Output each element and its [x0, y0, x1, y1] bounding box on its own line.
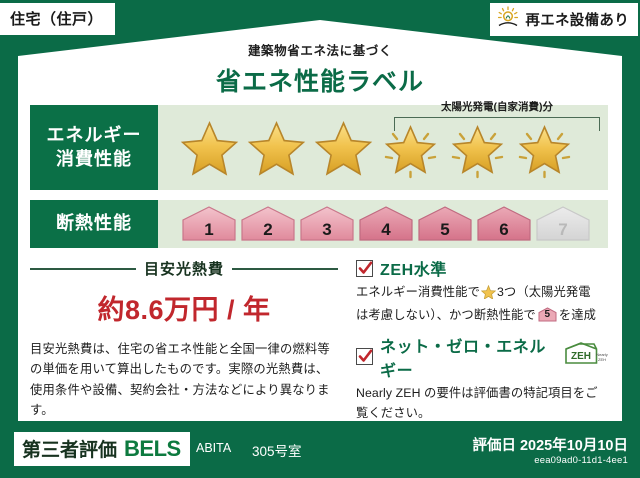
lower-section: 目安光熱費 約8.6万円 / 年 目安光熱費は、住宅の省エネ性能と全国一律の燃料… [30, 256, 608, 416]
insulation-level-number: 3 [298, 220, 356, 240]
insulation-performance-label: 断熱性能 [30, 200, 158, 248]
label-footer: 第三者評価 BELS ABITA 305号室 評価日 2025年10月10日 e… [0, 424, 640, 478]
checkbox-checked-icon [356, 348, 373, 365]
estimated-cost-amount: 約8.6万円 / 年 [30, 288, 338, 327]
insulation-level-number: 1 [180, 220, 238, 240]
zeh-desc-part2: は考慮しない）、かつ断熱性能で [356, 308, 536, 322]
renewable-badge-label: 再エネ設備あり [525, 9, 629, 30]
insulation-performance-value: 1 2 3 4 [158, 200, 608, 248]
evaluation-date: 評価日 2025年10月10日 [472, 434, 628, 455]
zeh-desc-star-text: 3つ（太陽光発電 [497, 285, 591, 299]
cost-note: 目安光熱費は、住宅の省エネ性能と全国一律の燃料等の単価を用いて算出したものです。… [30, 339, 338, 420]
solar-caption: 太陽光発電(自家消費)分 [394, 99, 600, 114]
zeh-desc-part1: エネルギー消費性能で [356, 285, 480, 299]
star-rating [158, 117, 576, 179]
insulation-level-house: 4 [357, 205, 415, 243]
insulation-level-number: 2 [239, 220, 297, 240]
cost-heading-label: 目安光熱費 [144, 258, 224, 279]
zeh-netzero-title-row: ネット・ゼロ・エネルギー ZEH Nearly ZEH [356, 333, 608, 381]
star-solar [379, 117, 442, 179]
header-subtitle: 建築物省エネ法に基づく [0, 40, 640, 59]
insulation-level-house-inactive: 7 [534, 205, 592, 243]
star-solar [513, 117, 576, 179]
insulation-level-house: 6 [475, 205, 533, 243]
energy-label-line2: 消費性能 [56, 148, 132, 171]
cost-heading: 目安光熱費 [30, 258, 338, 279]
cost-column: 目安光熱費 約8.6万円 / 年 目安光熱費は、住宅の省エネ性能と全国一律の燃料… [30, 256, 348, 416]
insulation-level-number: 4 [357, 220, 415, 240]
label-header: 建築物省エネ法に基づく 省エネ性能ラベル [0, 40, 640, 98]
page-title: 省エネ性能ラベル [0, 62, 640, 98]
insulation-level-number: 7 [534, 220, 592, 240]
insulation-level-icon-number: 5 [538, 307, 557, 322]
svg-text:ZEH: ZEH [571, 351, 591, 362]
star-icon [481, 285, 496, 306]
star-filled [245, 117, 308, 179]
insulation-level-house: 1 [180, 205, 238, 243]
insulation-level-icon: 5 [538, 307, 557, 322]
star-filled [178, 117, 241, 179]
insulation-level-house: 5 [416, 205, 474, 243]
zeh-column: ZEH水準 エネルギー消費性能で 3つ（太陽光発電は考慮しない）、かつ断熱性能で… [348, 256, 608, 416]
star-filled [312, 117, 375, 179]
rule-right [232, 268, 338, 270]
zeh-desc-part3: を達成 [559, 308, 596, 322]
bels-badge: 第三者評価 BELS [14, 432, 190, 466]
zeh-standard-title: ZEH水準 [380, 256, 447, 280]
housing-type-badge: 住宅（住戸） [0, 3, 115, 35]
property-room: 305号室 [252, 440, 302, 460]
zeh-logo-icon: ZEH Nearly ZEH [562, 342, 608, 371]
star-solar [446, 117, 509, 179]
energy-performance-label: エネルギー 消費性能 [30, 105, 158, 190]
energy-label-root: 住宅（住戸） 再エネ設備あり 建築物省エネ法に基づく [0, 0, 640, 478]
bels-badge-jp: 第三者評価 [22, 435, 117, 462]
evaluation-id: eea09ad0-11d1-4ee1 [534, 455, 628, 466]
insulation-performance-row: 断熱性能 1 [30, 200, 608, 248]
insulation-level-number: 6 [475, 220, 533, 240]
svg-text:ZEH: ZEH [598, 357, 606, 362]
zeh-netzero-title: ネット・ゼロ・エネルギー [380, 333, 551, 381]
energy-label-line1: エネルギー [47, 124, 142, 147]
energy-performance-row: エネルギー 消費性能 太陽光発電(自家消費)分 [30, 105, 608, 190]
zeh-netzero-block: ネット・ゼロ・エネルギー ZEH Nearly ZEH Nearly ZEH の… [356, 333, 608, 424]
insulation-level-number: 5 [416, 220, 474, 240]
zeh-netzero-description: Nearly ZEH の要件は評価書の特記項目をご覧ください。 [356, 384, 608, 424]
zeh-standard-title-row: ZEH水準 [356, 256, 608, 280]
insulation-level-house: 3 [298, 205, 356, 243]
sun-icon [496, 6, 520, 33]
renewable-equipment-badge: 再エネ設備あり [490, 3, 638, 36]
bels-badge-en: BELS [124, 436, 181, 462]
zeh-standard-description: エネルギー消費性能で 3つ（太陽光発電は考慮しない）、かつ断熱性能で 5を達成 [356, 283, 608, 326]
insulation-level-house: 2 [239, 205, 297, 243]
checkbox-checked-icon [356, 260, 373, 277]
zeh-standard-block: ZEH水準 エネルギー消費性能で 3つ（太陽光発電は考慮しない）、かつ断熱性能で… [356, 256, 608, 326]
property-name: ABITA [196, 441, 231, 455]
energy-performance-value: 太陽光発電(自家消費)分 [158, 105, 608, 190]
rule-left [30, 268, 136, 270]
insulation-scale: 1 2 3 4 [158, 205, 592, 243]
